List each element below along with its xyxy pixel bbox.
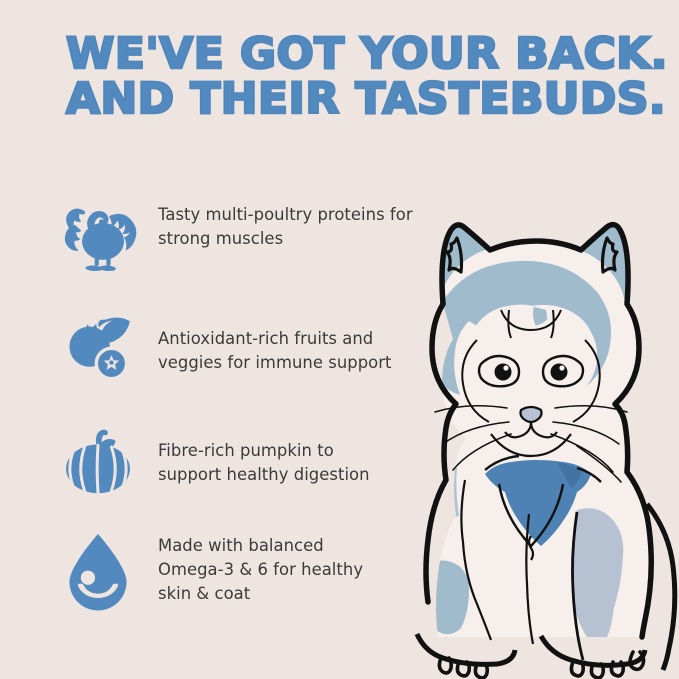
feature-item-antioxidant: Antioxidant-rich fruits and veggies for … — [52, 302, 452, 415]
feature-text-fibre: Fibre-rich pumpkin to support healthy di… — [158, 415, 370, 487]
feature-item-fibre: Fibre-rich pumpkin to support healthy di… — [52, 415, 452, 523]
pumpkin-icon — [52, 415, 144, 509]
headline-line-2: And their tastebuds. — [66, 77, 658, 122]
promo-poster: We've got your back. And their tastebuds… — [0, 0, 679, 679]
feature-line: skin & coat — [158, 582, 363, 606]
headline-line-1: We've got your back. — [66, 32, 658, 77]
water-droplet-smile-icon — [52, 523, 144, 617]
feature-text-protein: Tasty multi-poultry proteins for strong … — [158, 185, 413, 251]
feature-item-protein: Tasty multi-poultry proteins for strong … — [52, 185, 452, 302]
feature-line: Made with balanced — [158, 534, 363, 558]
feature-item-omega: Made with balanced Omega-3 & 6 for healt… — [52, 523, 452, 638]
feature-text-antioxidant: Antioxidant-rich fruits and veggies for … — [158, 302, 392, 375]
turkey-icon — [52, 185, 144, 279]
feature-list: Tasty multi-poultry proteins for strong … — [52, 185, 452, 638]
feature-line: strong muscles — [158, 227, 413, 251]
feature-line: Omega-3 & 6 for healthy — [158, 558, 363, 582]
feature-line: support healthy digestion — [158, 463, 370, 487]
feature-line: Tasty multi-poultry proteins for — [158, 203, 413, 227]
feature-line: veggies for immune support — [158, 351, 392, 375]
page-title: We've got your back. And their tastebuds… — [66, 32, 646, 122]
feature-text-omega: Made with balanced Omega-3 & 6 for healt… — [158, 523, 363, 606]
feature-line: Antioxidant-rich fruits and — [158, 327, 392, 351]
blueberries-icon — [52, 302, 144, 396]
feature-line: Fibre-rich pumpkin to — [158, 439, 370, 463]
